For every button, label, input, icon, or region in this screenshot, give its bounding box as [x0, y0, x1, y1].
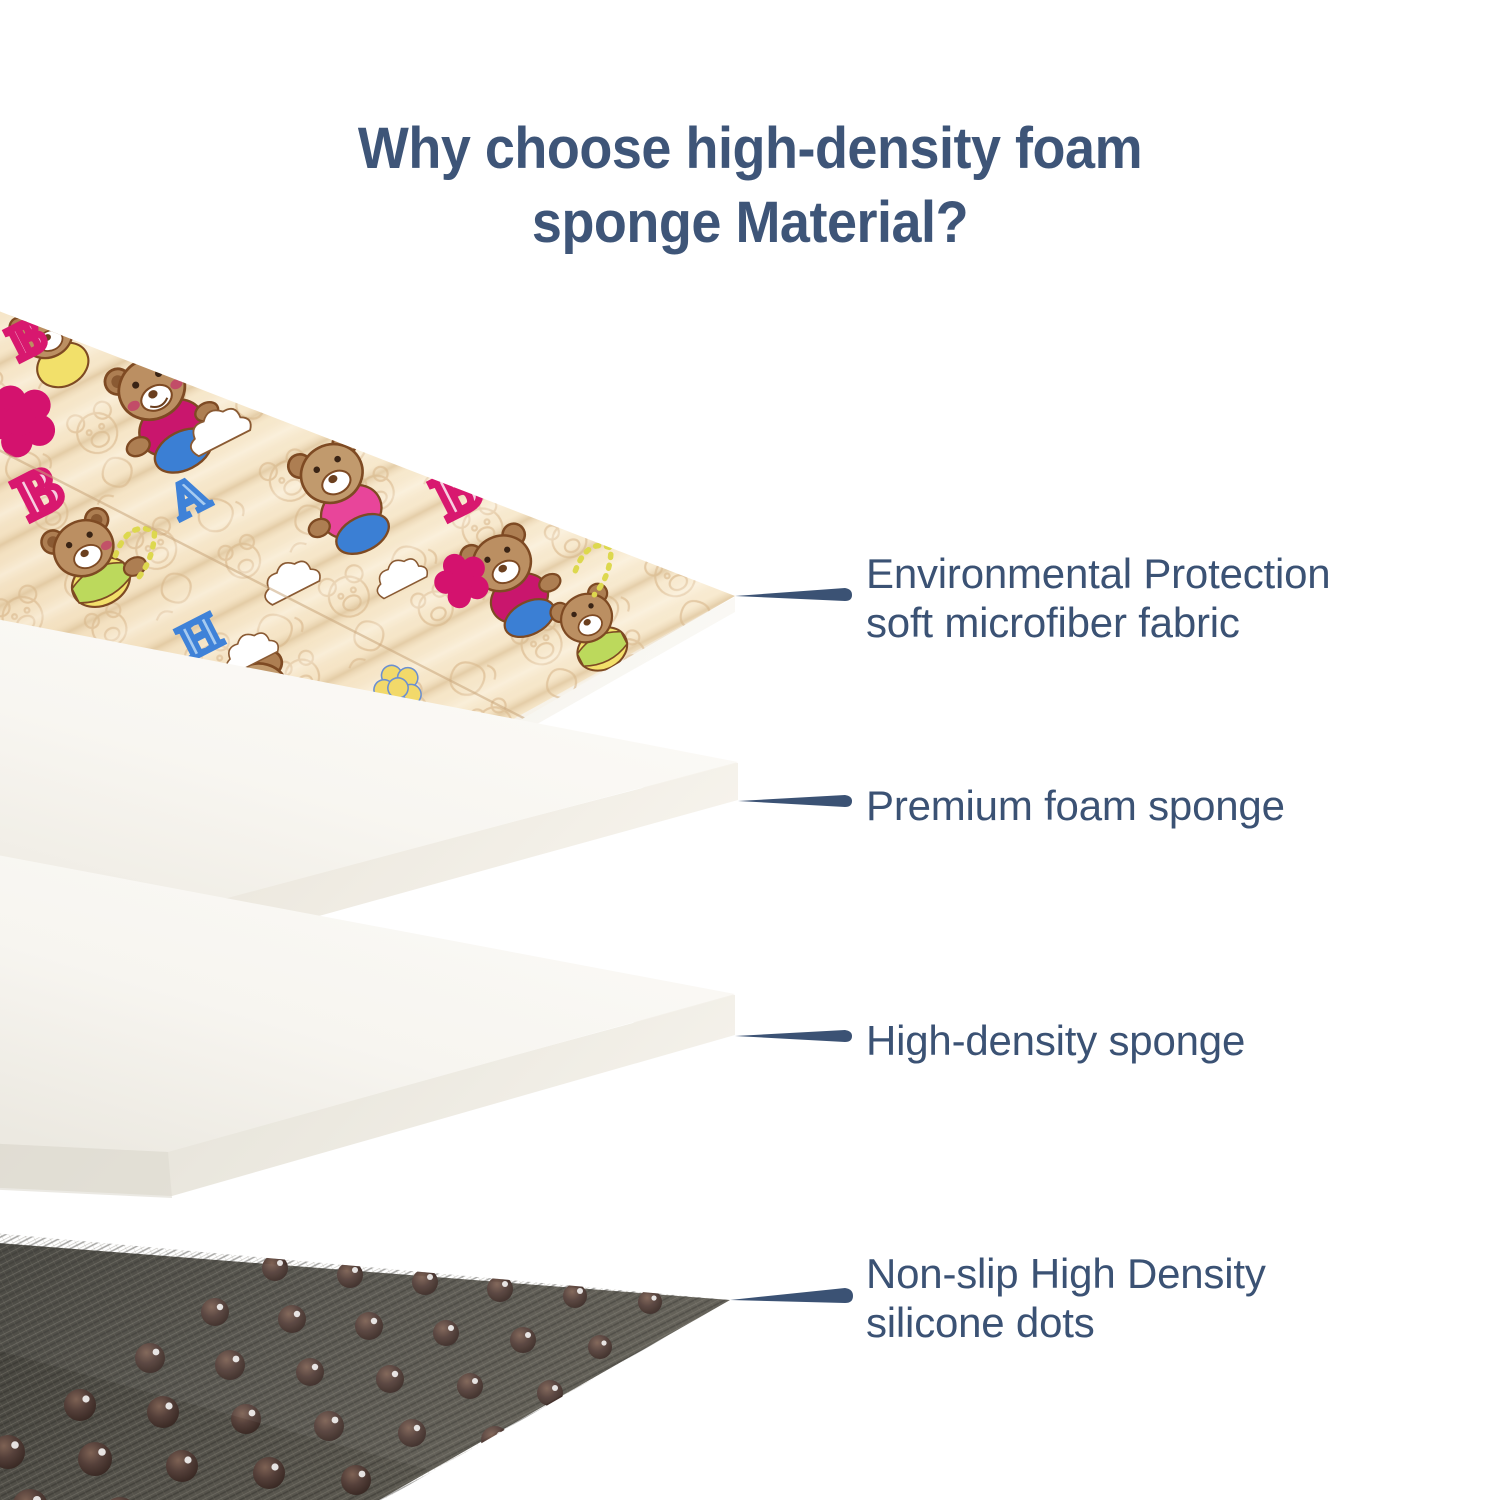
layer-silicone-base — [0, 1200, 840, 1500]
layer-label-high-density-foam: High-density sponge — [866, 1016, 1245, 1065]
infographic-canvas: Why choose high-density foam sponge Mate… — [0, 0, 1500, 1500]
leader-line-premium-foam — [738, 795, 852, 807]
leader-lines — [730, 588, 853, 1303]
leader-line-fabric — [735, 588, 852, 601]
layer-label-fabric: Environmental Protection soft microfiber… — [866, 549, 1330, 647]
leader-line-silicone — [730, 1288, 853, 1303]
silicone-texture — [0, 1200, 840, 1500]
leader-line-high-density-foam — [735, 1030, 852, 1042]
layer-label-silicone-dots: Non-slip High Density silicone dots — [866, 1249, 1266, 1347]
layer-label-premium-foam: Premium foam sponge — [866, 781, 1285, 830]
exploded-layer-diagram: B B B B A H H — [0, 0, 1500, 1500]
